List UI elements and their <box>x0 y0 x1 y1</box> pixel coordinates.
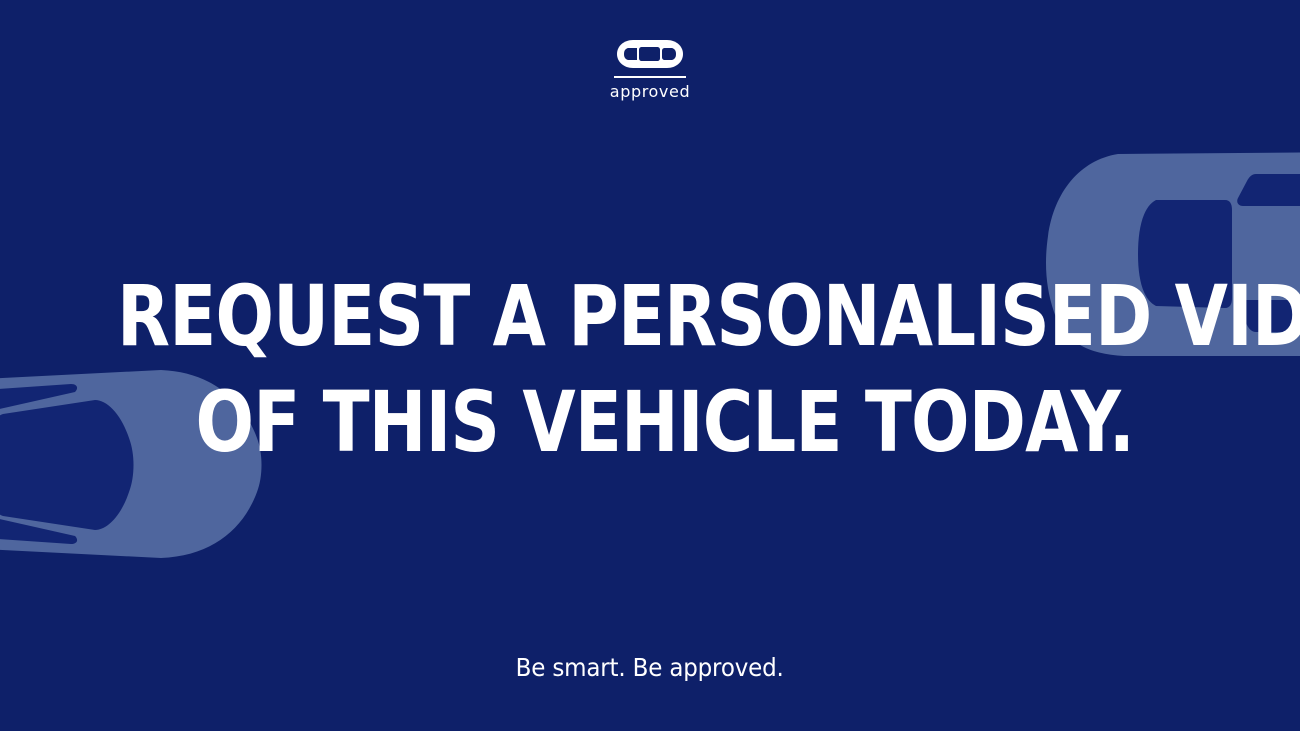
brand-logo: approved <box>0 38 1300 102</box>
brand-wordmark: approved <box>0 82 1300 102</box>
page-title: REQUEST A PERSONALISED VIDEO OF THIS VEH… <box>0 268 1300 470</box>
promo-banner: approved REQUEST A PERSONALISED VIDEO OF… <box>0 0 1300 731</box>
logo-divider <box>614 76 686 78</box>
brand-tagline-text: Be smart. Be approved. <box>516 653 784 683</box>
brand-tagline: Be smart. Be approved. <box>0 653 1300 683</box>
headline-line-1: REQUEST A PERSONALISED VIDEO <box>117 268 1183 364</box>
headline-line-2: OF THIS VEHICLE TODAY. <box>117 374 1183 470</box>
top-down-car-icon <box>615 38 685 70</box>
